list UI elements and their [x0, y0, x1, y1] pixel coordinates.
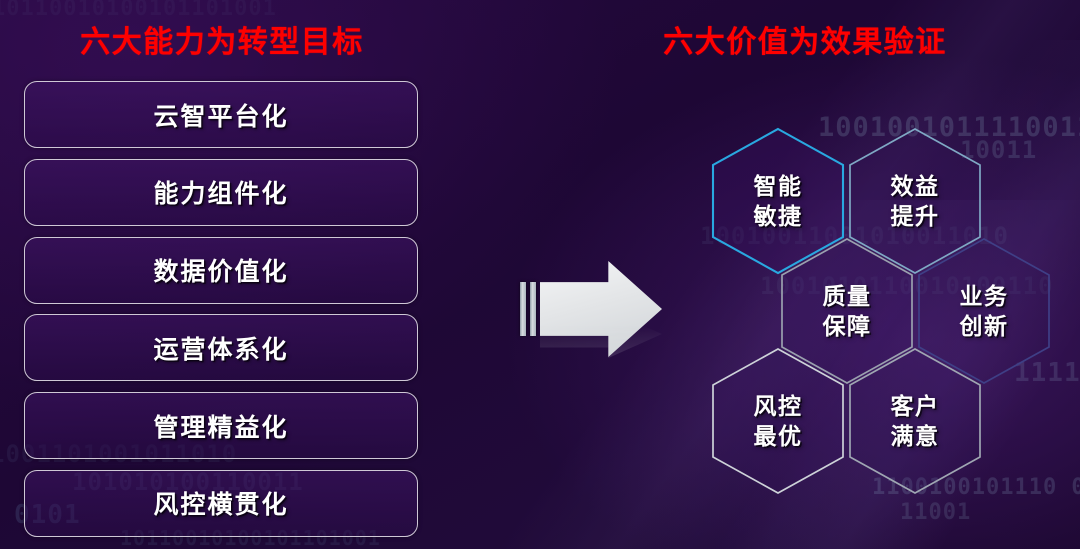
slide-canvas: 10110010100101101001 1001001100101001101… [0, 0, 1080, 549]
capability-box[interactable]: 运营体系化 [24, 314, 418, 381]
hexagon-label-line1: 效益 [891, 175, 940, 198]
right-panel-title: 六大价值为效果验证 [590, 17, 1020, 61]
hexagon-label-line2: 最优 [754, 425, 803, 448]
hexagon-label-line1: 客户 [891, 395, 940, 418]
capability-list: 云智平台化 能力组件化 数据价值化 运营体系化 管理精益化 风控横贯化 [24, 81, 418, 537]
hexagon-label-line1: 质量 [823, 285, 872, 308]
hexagon-label-line1: 业务 [960, 285, 1009, 308]
capability-label: 管理精益化 [153, 408, 288, 444]
capability-label: 风控横贯化 [153, 485, 288, 521]
hexagon-label-line2: 提升 [891, 205, 940, 228]
capability-box[interactable]: 能力组件化 [24, 159, 418, 226]
hexagon-label-line2: 创新 [960, 315, 1009, 338]
capability-box[interactable]: 数据价值化 [24, 237, 418, 304]
capability-label: 运营体系化 [153, 330, 288, 366]
arrow-tail-bar [530, 282, 536, 336]
capability-label: 数据价值化 [153, 252, 288, 288]
hexagon-label-line2: 保障 [823, 315, 872, 338]
capability-label: 云智平台化 [153, 97, 288, 133]
value-hexagon[interactable]: 风控 最优 [710, 346, 846, 496]
hexagon-label-line1: 风控 [754, 395, 803, 418]
right-arrow-icon [516, 258, 668, 408]
hexagon-text: 风控 最优 [710, 346, 846, 496]
value-hexagon-cluster: 智能 敏捷 效益 提升 质量 保障 [700, 118, 1000, 528]
value-hexagon[interactable]: 客户 满意 [847, 346, 983, 496]
capability-label: 能力组件化 [153, 174, 288, 210]
capability-box[interactable]: 风控横贯化 [24, 470, 418, 537]
arrow-tail-bar [520, 282, 526, 336]
left-panel-title: 六大能力为转型目标 [0, 17, 444, 61]
hexagon-label-line2: 满意 [891, 425, 940, 448]
hexagon-label-line1: 智能 [754, 175, 803, 198]
hexagon-text: 客户 满意 [847, 346, 983, 496]
hexagon-label-line2: 敏捷 [754, 205, 803, 228]
capability-box[interactable]: 云智平台化 [24, 81, 418, 148]
capability-box[interactable]: 管理精益化 [24, 392, 418, 459]
